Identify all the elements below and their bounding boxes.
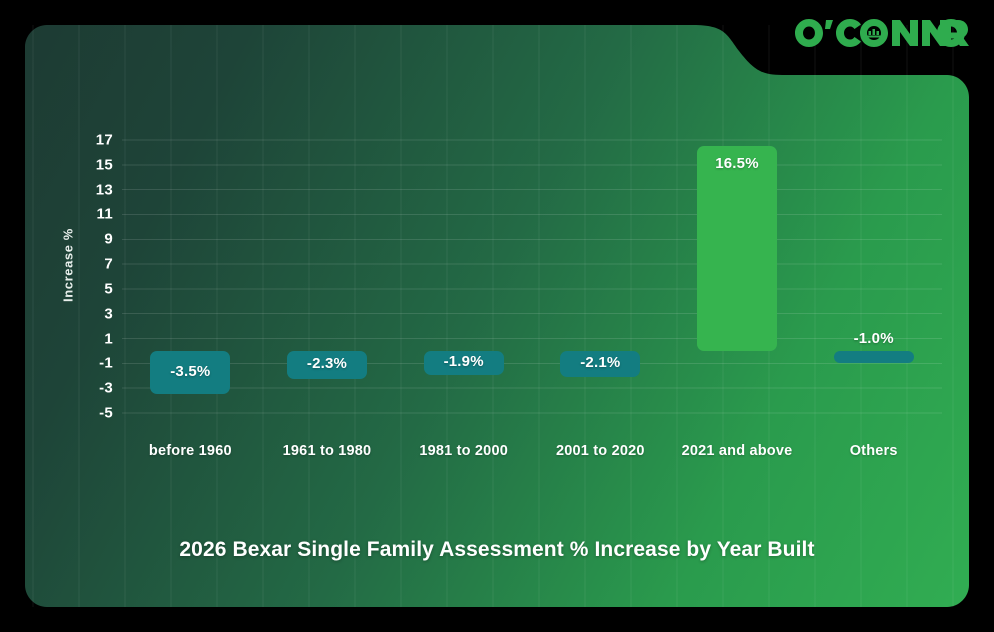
y-tick-label: 9 [104,231,113,248]
bar[interactable] [697,146,777,351]
bar-group[interactable]: -2.1%2001 to 2020 [560,140,640,413]
bar-group[interactable]: -1.9%1981 to 2000 [424,140,504,413]
y-tick-label: 11 [97,206,113,223]
bar-value-label: -2.3% [287,355,367,372]
bar-value-label: -2.1% [560,354,640,371]
x-axis-category-label: 2021 and above [671,443,803,459]
plot-area: 1715131197531-1-3-5 -3.5%before 1960-2.3… [122,140,942,413]
bar[interactable] [834,351,914,363]
y-tick-label: -5 [99,405,113,422]
screenshot-root: Increase % 1715131197531-1-3-5 -3.5%befo… [0,0,994,632]
y-tick-label: 13 [96,181,113,198]
oconnor-logo [794,16,970,50]
y-tick-label: 1 [104,330,113,347]
bar-value-label: -1.0% [834,330,914,347]
bar-group[interactable]: -3.5%before 1960 [150,140,230,413]
y-tick-label: 5 [104,280,113,297]
bar-value-label: 16.5% [697,155,777,172]
y-axis-label: Increase % [61,228,76,302]
y-tick-label: 15 [96,156,113,173]
oconnor-wordmark-icon [794,17,970,49]
x-axis-category-label: Others [808,443,940,459]
x-axis-category-label: 2001 to 2020 [534,443,666,459]
x-axis-category-label: 1981 to 2000 [398,443,530,459]
x-axis-category-label: before 1960 [124,443,256,459]
bar-group[interactable]: -2.3%1961 to 1980 [287,140,367,413]
x-axis-category-label: 1961 to 1980 [261,443,393,459]
bar-value-label: -1.9% [424,353,504,370]
chart-title: 2026 Bexar Single Family Assessment % In… [25,538,969,562]
bar-group[interactable]: -1.0%Others [834,140,914,413]
bar-group[interactable]: 16.5%2021 and above [697,140,777,413]
y-tick-label: 3 [104,305,113,322]
y-tick-label: -1 [99,355,113,372]
y-tick-label: 17 [96,132,113,149]
y-tick-label: 7 [104,256,113,273]
bar-value-label: -3.5% [150,363,230,380]
y-tick-label: -3 [99,380,113,397]
